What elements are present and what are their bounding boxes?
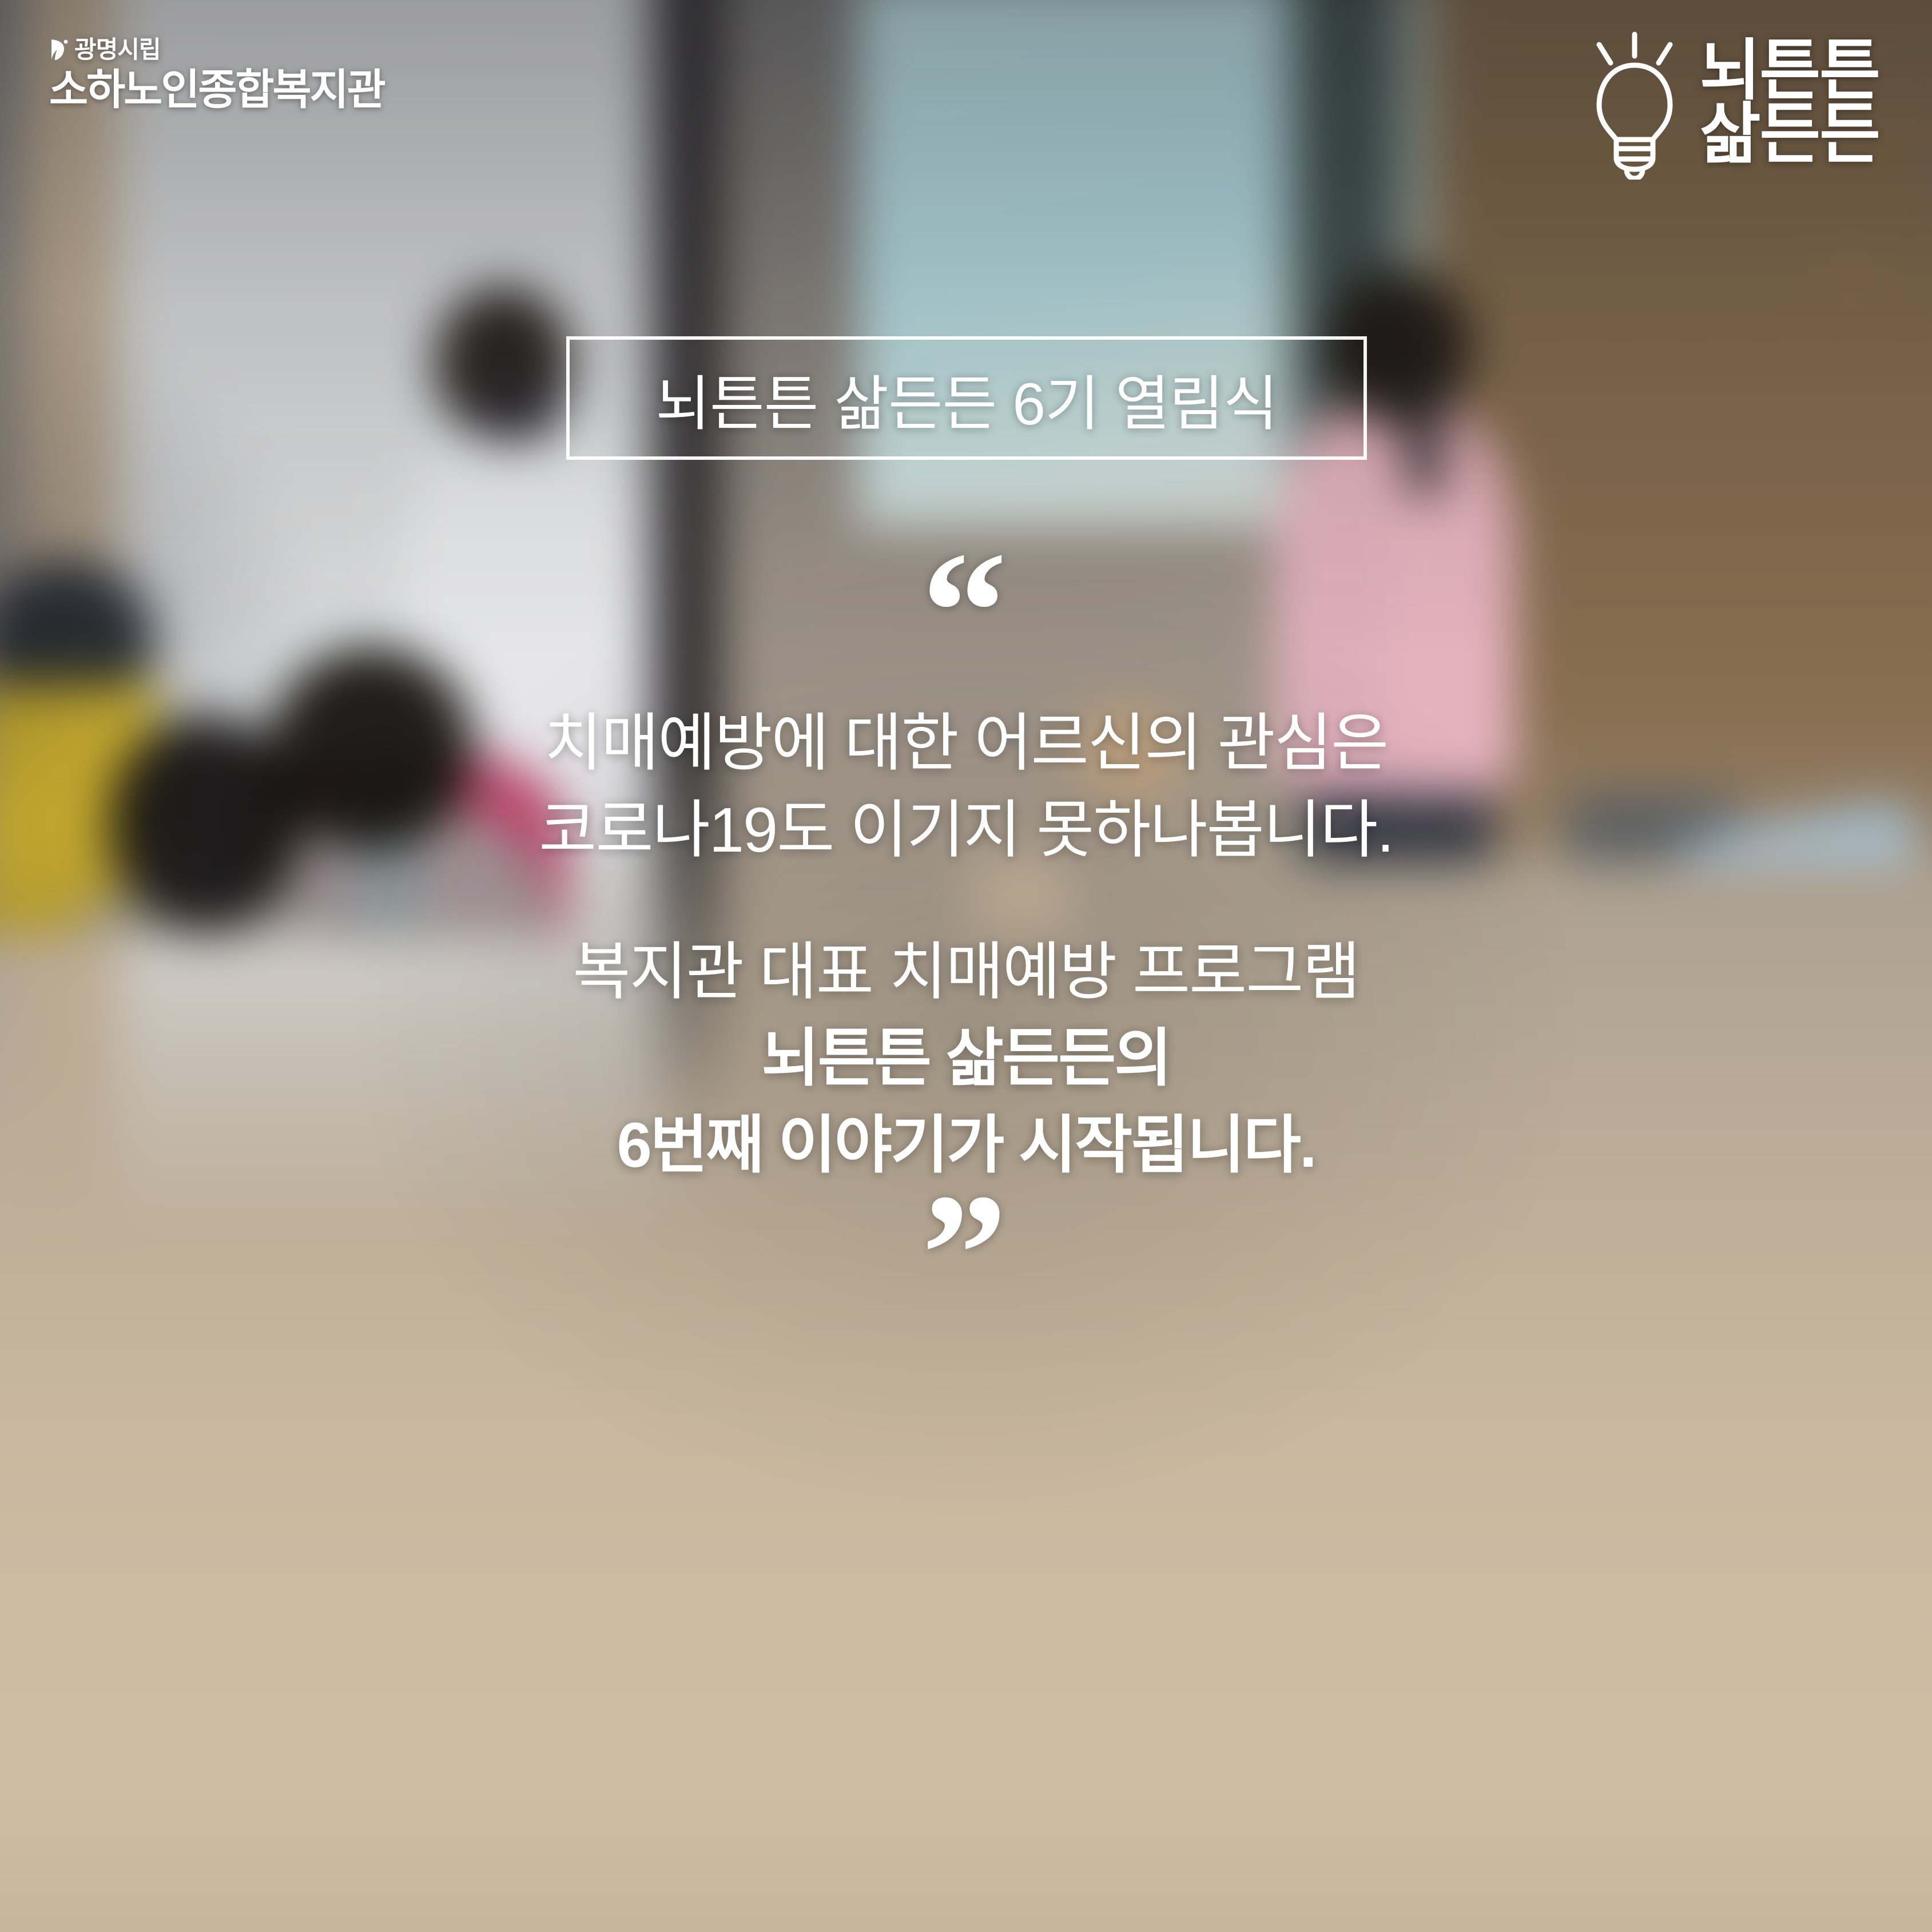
headline-text: 뇌튼튼 삶든든 6기 열림식 bbox=[655, 355, 1277, 442]
quote-close-mark: ” bbox=[0, 1214, 1932, 1293]
institution-logo-sub-row: 광명시립 bbox=[49, 38, 384, 62]
program-logo-line1: 뇌튼튼 bbox=[1700, 39, 1879, 102]
quote-open-mark: “ bbox=[0, 572, 1932, 651]
quote-paragraph-1: 치매예방에 대한 어르신의 관심은 코로나19도 이기지 못하나봅니다. bbox=[0, 700, 1932, 874]
quote-block: “ 치매예방에 대한 어르신의 관심은 코로나19도 이기지 못하나봅니다. 복… bbox=[0, 572, 1932, 1293]
program-logo-line2: 삶든든 bbox=[1700, 102, 1879, 166]
quote-line: 복지관 대표 치매예방 프로그램 bbox=[0, 929, 1932, 1016]
quote-line: 치매예방에 대한 어르신의 관심은 bbox=[0, 700, 1932, 787]
quote-line: 코로나19도 이기지 못하나봅니다. bbox=[0, 787, 1932, 874]
lightbulb-icon bbox=[1584, 25, 1685, 180]
program-logo: 뇌튼튼 삶든든 bbox=[1584, 25, 1879, 180]
card-content: 광명시립 소하노인종합복지관 bbox=[0, 0, 1932, 1932]
leaf-mark-icon bbox=[49, 38, 69, 61]
quote-paragraph-2: 복지관 대표 치매예방 프로그램 뇌튼튼 삶든든의 6번째 이야기가 시작됩니다… bbox=[0, 929, 1932, 1189]
promo-card: 뇌튼튼 삶든든 6기 열림식 ● bbox=[0, 0, 1932, 1932]
institution-logo-main-label: 소하노인종합복지관 bbox=[49, 69, 384, 111]
institution-logo-sub-label: 광명시립 bbox=[74, 38, 161, 62]
institution-logo: 광명시립 소하노인종합복지관 bbox=[49, 38, 384, 111]
quote-line: 뇌튼튼 삶든든의 bbox=[0, 1015, 1932, 1102]
program-logo-words: 뇌튼튼 삶든든 bbox=[1700, 39, 1879, 166]
headline-frame: 뇌튼튼 삶든든 6기 열림식 bbox=[566, 336, 1367, 460]
